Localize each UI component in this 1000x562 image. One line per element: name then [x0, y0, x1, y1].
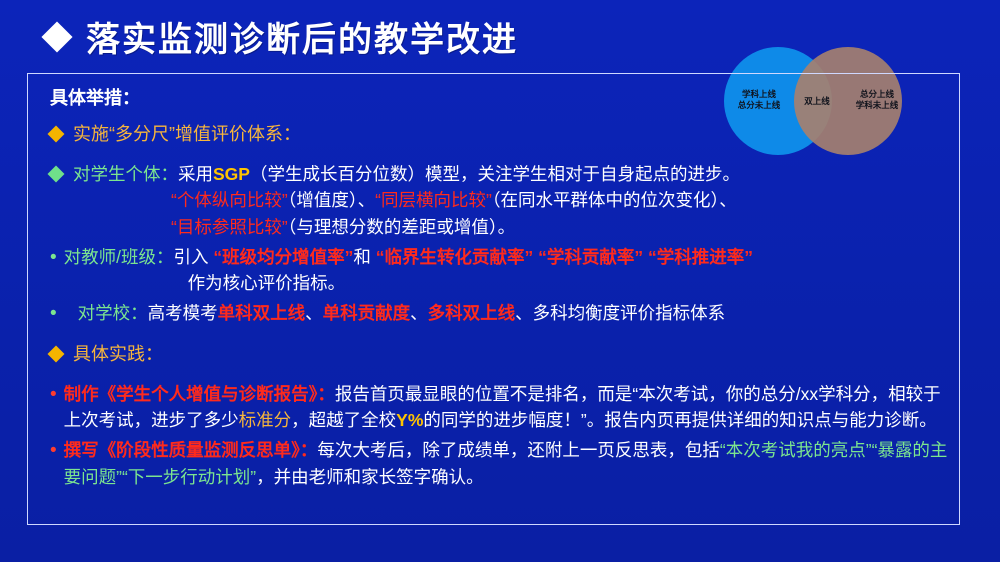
text-seg-subject-contrib: “学科贡献率” [538, 247, 643, 267]
text-seg-subject-push: “学科推进率” [648, 247, 753, 267]
list-item-label: 实施“多分尺”增值评价体系： [73, 121, 301, 148]
text-seg-target-compare: “目标参照比较” [171, 217, 288, 237]
text-seg-comma-2: 、 [410, 303, 428, 323]
list-item-practice: 具体实践： [50, 341, 950, 368]
dot-icon-red: • [50, 381, 57, 409]
section-label: 具体举措： [50, 84, 950, 110]
list-item-report: • 制作《学生个人增值与诊断报告》：报告首页最显眼的位置不是排名，而是“本次考试… [50, 381, 950, 434]
text-seg-report-desc-3: 的同学的进步幅度！”。报告内页再提供详细的知识点与能力诊断。 [423, 410, 936, 430]
text-seg-comma-1: 、 [305, 303, 323, 323]
text-seg-borderline-rate: “临界生转化贡献率” [376, 247, 534, 267]
lead-label-school: 对学校： [78, 303, 148, 323]
text-seg-class-avg-rate: “班级均分增值率” [213, 247, 353, 267]
text-seg-balance-index: 、多科均衡度评价指标体系 [515, 303, 725, 323]
text-seg-standard-score: 标准分 [239, 410, 292, 430]
list-item-label: 具体实践： [73, 341, 163, 368]
lead-label-teacher: 对教师/班级： [64, 247, 174, 267]
list-item-body: 对学生个体：采用SGP（学生成长百分位数）模型，关注学生相对于自身起点的进步。 … [73, 161, 740, 240]
content-body: 具体举措： 实施“多分尺”增值评价体系： 对学生个体：采用SGP（学生成长百分位… [50, 84, 950, 494]
list-item-body: 对教师/班级：引入 “班级均分增值率”和 “临界生转化贡献率” “学科贡献率” … [64, 244, 753, 297]
text-seg-core-index: 作为核心评价指标。 [64, 270, 753, 296]
text-seg-reflection-desc-1: 每次大考后，除了成绩单，还附上一页反思表，包括 [317, 440, 720, 460]
text-seg-vertical-compare: “个体纵向比较” [171, 190, 288, 210]
list-item-body: 制作《学生个人增值与诊断报告》：报告首页最显眼的位置不是排名，而是“本次考试，你… [64, 381, 950, 434]
text-seg-value-add: （增值度）、 [288, 190, 376, 210]
diamond-icon-gold [48, 126, 65, 143]
text-seg-rank-change: （在同水平群体中的位次变化）、 [492, 190, 737, 210]
diamond-icon-green [48, 166, 65, 183]
text-seg-horizontal-compare: “同层横向比较” [375, 190, 492, 210]
slide-canvas: 落实监测诊断后的教学改进 学科上线 总分未上线 双上线 总分上线 学科未上线 具… [0, 0, 1000, 562]
text-seg-mock-exam: 高考模考 [148, 303, 218, 323]
dot-icon-green: • [50, 244, 57, 272]
text-seg-sgp-desc: （学生成长百分位数）模型，关注学生相对于自身起点的进步。 [250, 164, 740, 184]
text-seg-ideal-gap: （与理想分数的差距或增值）。 [288, 217, 516, 237]
text-seg-reflection-desc-2: ，并由老师和家长签字确认。 [256, 467, 484, 487]
text-seg-action-plan: “下一步行动计划” [122, 467, 256, 487]
list-item-school: • 对学校：高考模考单科双上线、单科贡献度、多科双上线、多科均衡度评价指标体系 [50, 300, 950, 328]
text-seg-single-dual-line: 单科双上线 [218, 303, 306, 323]
text-seg-highlight: “本次考试我的亮点” [720, 440, 872, 460]
text-seg-adopt: 采用 [178, 164, 213, 184]
text-seg-report-desc-2: ，超越了全校 [291, 410, 396, 430]
diamond-icon-gold [48, 345, 65, 362]
list-item-student-individual: 对学生个体：采用SGP（学生成长百分位数）模型，关注学生相对于自身起点的进步。 … [50, 161, 950, 240]
dot-icon-green: • [50, 300, 57, 328]
list-item-body: 对学校：高考模考单科双上线、单科贡献度、多科双上线、多科均衡度评价指标体系 [64, 300, 726, 326]
diamond-icon [41, 21, 72, 52]
dot-icon-red: • [50, 437, 57, 465]
text-seg-y-percent: Y% [396, 410, 423, 430]
list-item-measure-system: 实施“多分尺”增值评价体系： [50, 121, 950, 148]
text-seg-reflection-title: 撰写《阶段性质量监测反思单》： [64, 440, 318, 460]
page-title: 落实监测诊断后的教学改进 [46, 12, 518, 61]
text-seg-sgp: SGP [213, 164, 250, 184]
text-seg-introduce: 引入 [174, 247, 209, 267]
text-seg-report-title: 制作《学生个人增值与诊断报告》： [64, 384, 335, 404]
list-item-body: 撰写《阶段性质量监测反思单》：每次大考后，除了成绩单，还附上一页反思表，包括“本… [64, 437, 950, 490]
lead-label-student: 对学生个体： [73, 164, 178, 184]
text-seg-and: 和 [353, 247, 371, 267]
text-seg-single-contrib: 单科贡献度 [323, 303, 411, 323]
title-text: 落实监测诊断后的教学改进 [86, 12, 518, 61]
list-item-teacher-class: • 对教师/班级：引入 “班级均分增值率”和 “临界生转化贡献率” “学科贡献率… [50, 244, 950, 297]
text-seg-multi-dual-line: 多科双上线 [428, 303, 516, 323]
list-item-reflection: • 撰写《阶段性质量监测反思单》：每次大考后，除了成绩单，还附上一页反思表，包括… [50, 437, 950, 490]
